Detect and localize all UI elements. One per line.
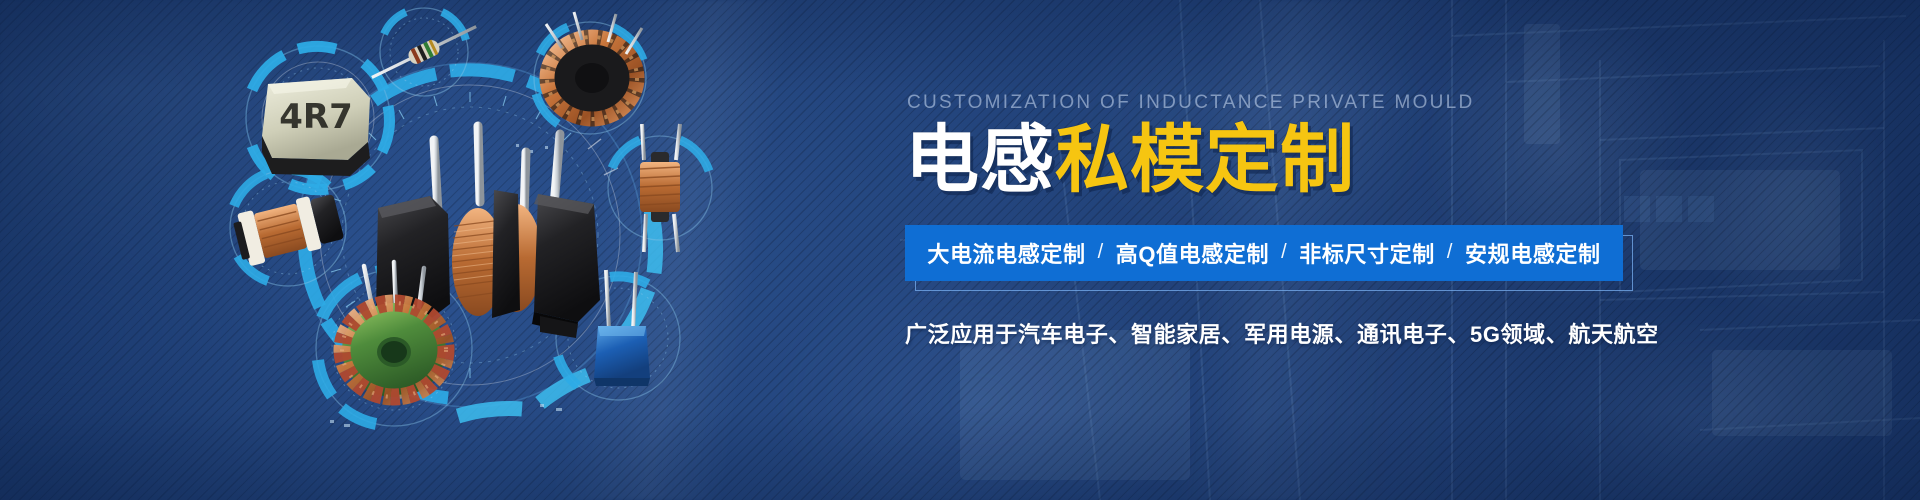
headline-white-part: 电感 <box>905 117 1055 203</box>
feature-bar-wrapper: 大电流电感定制 / 高Q值电感定制 / 非标尺寸定制 / 安规电感定制 <box>905 225 1625 283</box>
product-smd-power-inductor: 4R7 <box>262 78 370 176</box>
headline-yellow-part: 私模定制 <box>1055 117 1355 203</box>
application-description: 广泛应用于汽车电子、智能家居、军用电源、通讯电子、5G领域、航天航空 <box>905 317 1705 349</box>
feature-item-2[interactable]: 高Q值电感定制 <box>1116 237 1269 269</box>
product-showcase-artwork: 4R7 <box>0 0 900 500</box>
feature-separator-3: / <box>1435 241 1465 264</box>
feature-item-1[interactable]: 大电流电感定制 <box>927 237 1085 269</box>
feature-list: 大电流电感定制 / 高Q值电感定制 / 非标尺寸定制 / 安规电感定制 <box>927 237 1600 269</box>
feature-separator-1: / <box>1086 241 1116 264</box>
svg-text:4R7: 4R7 <box>279 97 353 137</box>
product-blue-radial-inductor <box>594 270 650 386</box>
english-subtitle: CUSTOMIZATION OF INDUCTANCE PRIVATE MOUL… <box>907 92 1705 114</box>
feature-item-4[interactable]: 安规电感定制 <box>1465 237 1601 269</box>
promo-banner: 4R7 <box>0 0 1920 500</box>
copy-block: CUSTOMIZATION OF INDUCTANCE PRIVATE MOUL… <box>905 92 1705 371</box>
feature-separator-2: / <box>1269 241 1299 264</box>
product-bobbin-wound-inductor <box>231 190 345 268</box>
feature-item-3[interactable]: 非标尺寸定制 <box>1299 237 1435 269</box>
feature-bar: 大电流电感定制 / 高Q值电感定制 / 非标尺寸定制 / 安规电感定制 <box>905 225 1623 281</box>
page-title: 电感私模定制 <box>905 122 1705 199</box>
